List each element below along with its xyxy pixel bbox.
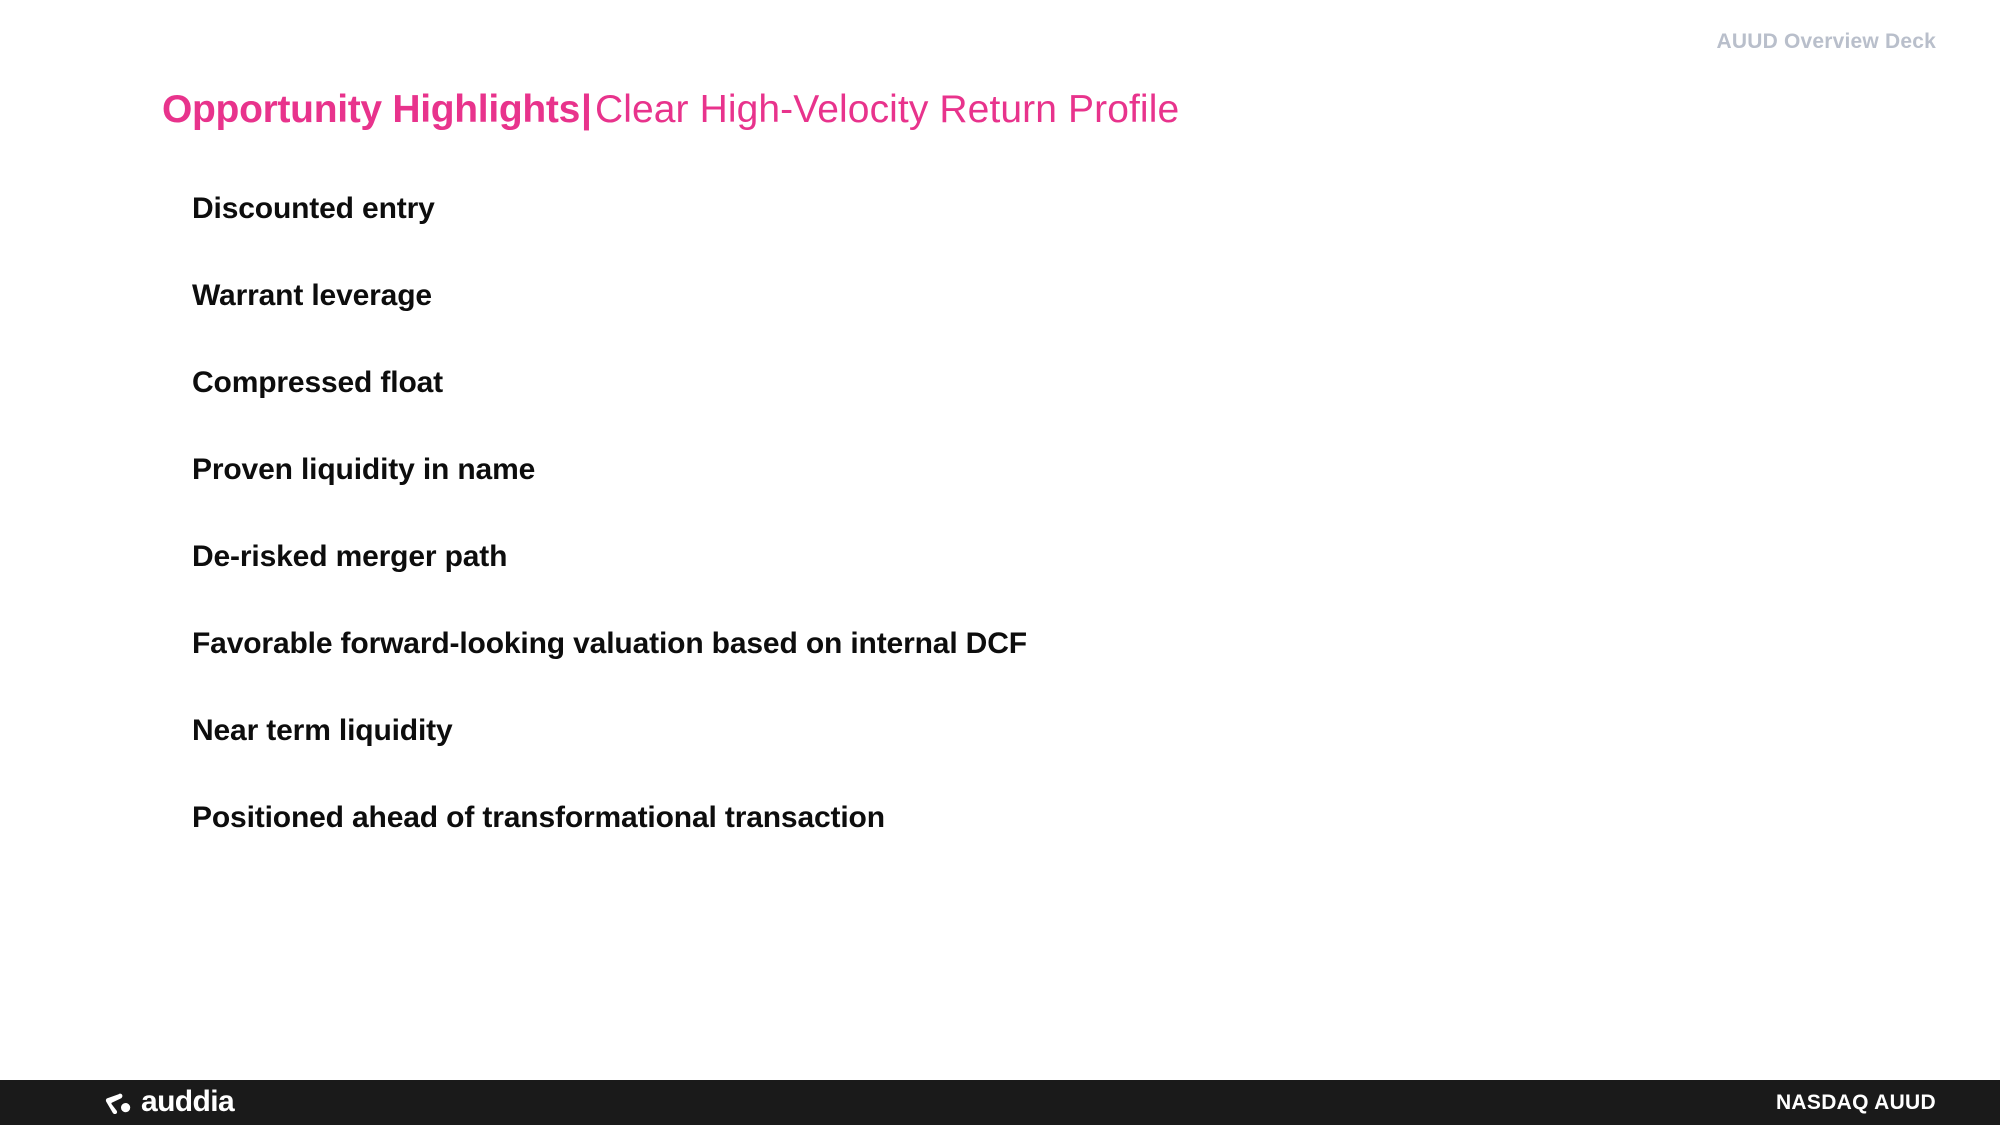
list-item: De-risked merger path xyxy=(192,534,1792,621)
list-item: Discounted entry xyxy=(192,186,1792,273)
page-title-separator: | xyxy=(580,88,595,131)
list-item: Favorable forward-looking valuation base… xyxy=(192,621,1792,708)
auddia-logo-icon xyxy=(104,1092,134,1114)
deck-label: AUUD Overview Deck xyxy=(1716,30,1936,54)
brand-wordmark: auddia xyxy=(141,1087,234,1117)
brand-logo: auddia xyxy=(104,1088,234,1118)
footer-bar: auddia NASDAQ AUUD xyxy=(0,1080,2000,1125)
list-item: Warrant leverage xyxy=(192,273,1792,360)
list-item: Near term liquidity xyxy=(192,708,1792,795)
slide-title: Opportunity Highlights|Clear High-Veloci… xyxy=(162,88,1179,133)
page-title-strong: Opportunity Highlights xyxy=(162,88,580,131)
list-item: Positioned ahead of transformational tra… xyxy=(192,795,1792,882)
highlights-list: Discounted entry Warrant leverage Compre… xyxy=(192,186,1792,882)
page-title-subtitle: Clear High-Velocity Return Profile xyxy=(595,88,1179,131)
slide: AUUD Overview Deck Opportunity Highlight… xyxy=(0,0,2000,1125)
list-item: Proven liquidity in name xyxy=(192,447,1792,534)
ticker-label: NASDAQ AUUD xyxy=(1776,1091,1936,1115)
list-item: Compressed float xyxy=(192,360,1792,447)
